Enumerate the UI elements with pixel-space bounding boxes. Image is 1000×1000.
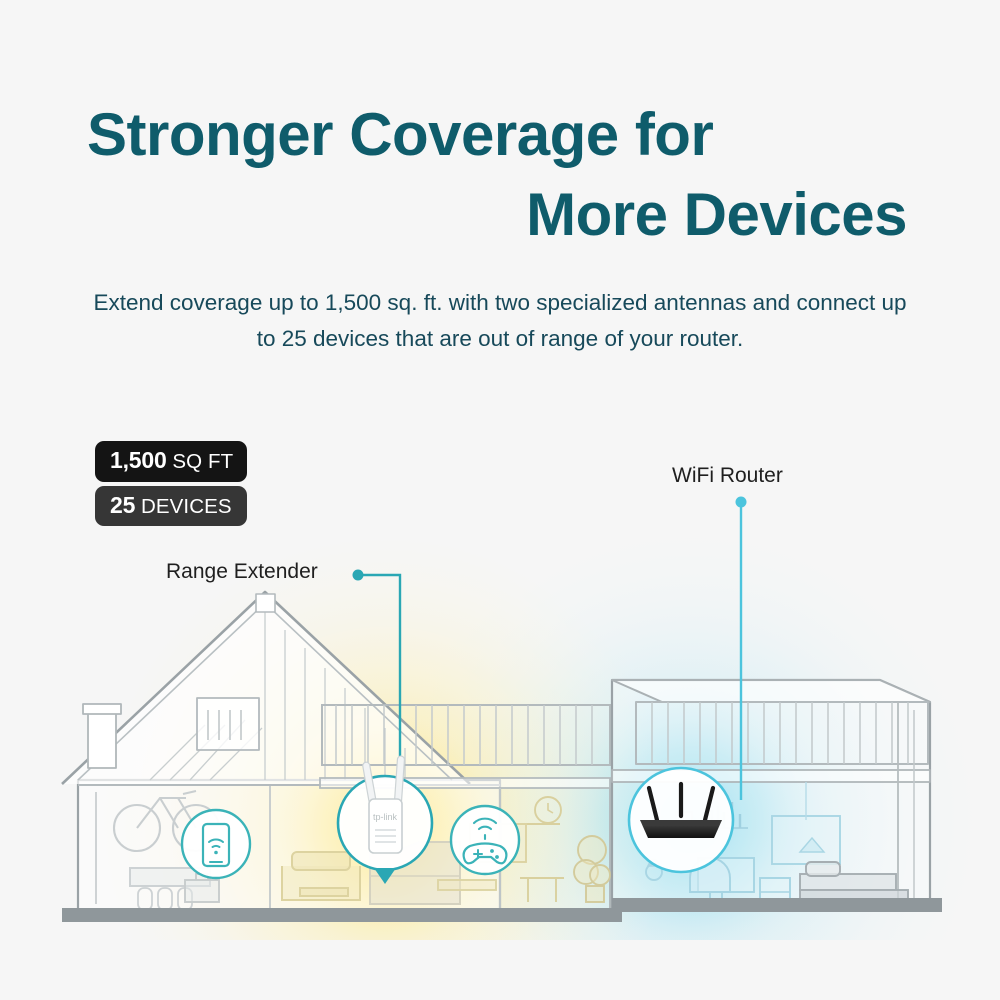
extender-body	[369, 799, 402, 853]
gamepad-button-a	[490, 849, 494, 853]
coverage-area-value: 1,500	[110, 447, 167, 473]
range-extender-leader-dot	[353, 570, 364, 581]
wifi-router-leader-dot	[736, 497, 747, 508]
gamepad-device-icon	[451, 806, 519, 874]
page-title: Stronger Coverage for More Devices	[0, 95, 1000, 256]
headline-line-1: Stronger Coverage for	[85, 95, 915, 175]
svg-text:tp-link: tp-link	[373, 812, 398, 822]
device-count-badge: 25 DEVICES	[95, 486, 247, 527]
spec-badges: 1,500 SQ FT 25 DEVICES	[95, 441, 247, 526]
chimney	[83, 704, 121, 768]
device-count-value: 25	[110, 492, 135, 518]
attic-window	[197, 698, 259, 750]
wifi-router-callout-label: WiFi Router	[672, 464, 783, 488]
gamepad-button-b	[495, 855, 499, 859]
headline-line-2: More Devices	[85, 175, 915, 255]
coverage-area-badge: 1,500 SQ FT	[95, 441, 247, 482]
coverage-area-unit: SQ FT	[172, 450, 233, 473]
product-feature-banner: Stronger Coverage for More Devices Exten…	[0, 0, 1000, 1000]
smartphone-device-icon	[182, 810, 250, 878]
wifi-router-device	[629, 768, 733, 872]
range-extender-callout-label: Range Extender	[166, 560, 318, 584]
router-top	[640, 820, 722, 826]
subtitle-line-1: Extend coverage up to 1,500 sq. ft. with…	[93, 290, 790, 315]
right-floor-slab	[612, 898, 942, 912]
left-floor-slab	[62, 908, 622, 922]
page-subtitle: Extend coverage up to 1,500 sq. ft. with…	[90, 285, 910, 358]
device-count-unit: DEVICES	[141, 495, 232, 518]
